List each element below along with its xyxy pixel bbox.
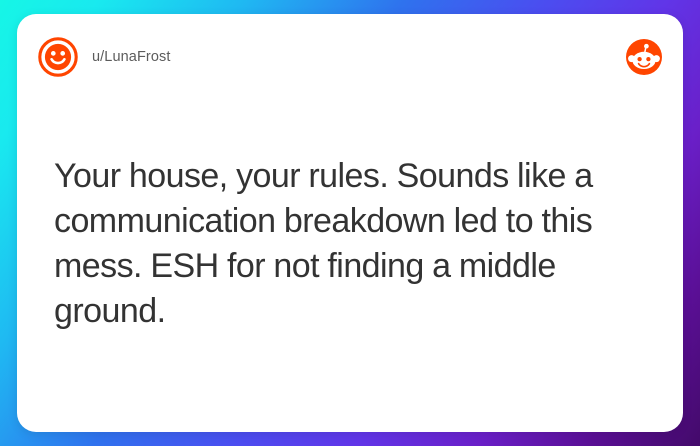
comment-card: u/LunaFrost bbox=[17, 14, 683, 432]
username-label: u/LunaFrost bbox=[92, 49, 170, 65]
card-header: u/LunaFrost bbox=[37, 31, 663, 83]
smiley-face-avatar-icon[interactable] bbox=[37, 36, 79, 78]
post-body-text: Your house, your rules. Sounds like a co… bbox=[54, 154, 653, 334]
reddit-comment-card-screenshot: u/LunaFrost bbox=[0, 0, 700, 446]
reddit-snoo-logo-icon[interactable] bbox=[625, 38, 663, 76]
